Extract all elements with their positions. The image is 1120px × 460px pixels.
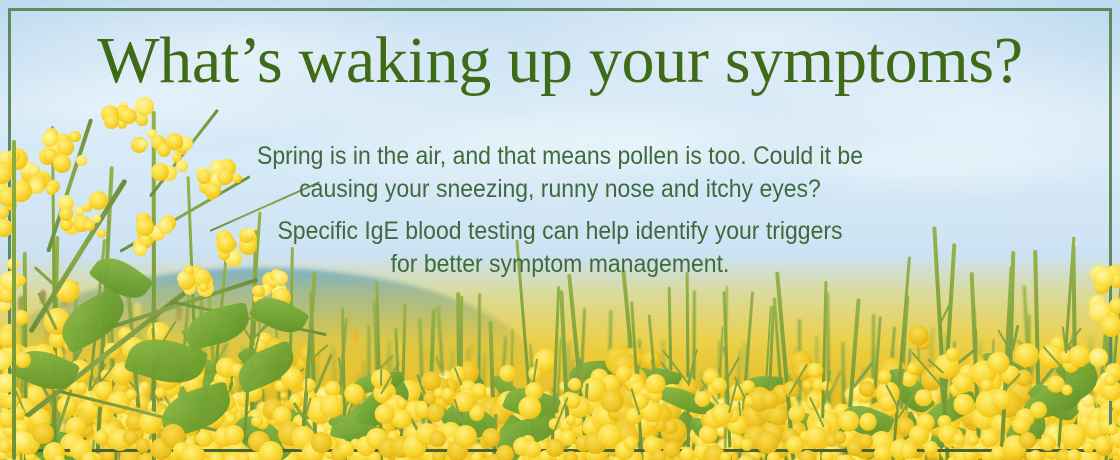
flower-blossom	[184, 375, 203, 394]
frame-overlapping-blossom	[858, 434, 874, 450]
flower-blossom	[76, 382, 87, 393]
frame-overlapping-blossom	[471, 452, 483, 460]
frame-overlapping-blossom	[756, 431, 779, 454]
frame-overlapping-blossom	[680, 447, 695, 460]
frame-overlapping-blossom	[259, 441, 283, 460]
flower-blossom	[1061, 384, 1073, 396]
frame-overlapping-blossom	[624, 436, 638, 450]
flower-blossom	[980, 378, 993, 391]
frame-overlapping-blossom	[429, 431, 446, 448]
flower-blossom	[0, 348, 10, 360]
frame-overlapping-blossom	[720, 452, 731, 460]
frame-overlapping-blossom	[546, 439, 564, 457]
flower-blossom	[741, 380, 755, 394]
flower-stem	[152, 111, 156, 460]
flower-blossom	[694, 390, 711, 407]
frame-overlapping-blossom	[82, 452, 97, 460]
frame-overlapping-blossom	[1029, 450, 1042, 460]
frame-overlapping-blossom	[805, 426, 827, 448]
frame-overlapping-blossom	[32, 423, 53, 444]
frame-overlapping-flowers	[0, 420, 1120, 460]
frame-overlapping-blossom	[339, 441, 355, 457]
frame-overlapping-blossom	[799, 450, 816, 460]
flower-twig	[251, 309, 280, 342]
frame-overlapping-blossom	[900, 443, 917, 460]
frame-overlapping-blossom	[1067, 449, 1081, 460]
flower-blossom	[645, 374, 666, 395]
flower-blossom	[807, 362, 823, 378]
frame-overlapping-blossom	[482, 428, 501, 447]
flower-twig	[728, 379, 739, 413]
frame-overlapping-blossom	[224, 425, 244, 445]
flower-blossom	[121, 337, 144, 360]
flower-twig	[195, 323, 210, 356]
frame-overlapping-blossom	[454, 425, 477, 448]
flower-blossom	[81, 331, 92, 342]
flower-twig	[727, 357, 740, 379]
frame-overlapping-blossom	[136, 438, 151, 453]
flower-blossom	[281, 367, 304, 390]
frame-overlapping-blossom	[1019, 432, 1036, 449]
frame-overlapping-blossom	[980, 429, 998, 447]
flower-blossom	[472, 384, 487, 399]
frame-overlapping-blossom	[196, 430, 213, 447]
flower-stem	[95, 166, 113, 460]
frame-overlapping-blossom	[663, 441, 681, 459]
flower-blossom	[344, 383, 365, 404]
flower-blossom	[498, 364, 517, 383]
flower-blossom	[907, 362, 919, 374]
flower-blossom	[255, 369, 276, 390]
flower-blossom	[518, 395, 542, 419]
flower-blossom	[710, 377, 726, 393]
flower-blossom	[126, 389, 137, 400]
flower-blossom	[568, 377, 582, 391]
frame-overlapping-blossom	[238, 453, 249, 460]
frame-overlapping-blossom	[874, 445, 891, 460]
frame-overlapping-blossom	[967, 434, 979, 446]
flower-field-foreground-layer	[0, 160, 1120, 460]
flower-twig	[309, 344, 329, 362]
frame-overlapping-blossom	[1040, 435, 1056, 451]
flower-blossom	[397, 398, 408, 409]
flower-twig	[940, 299, 954, 324]
frame-overlapping-blossom	[564, 451, 579, 460]
frame-overlapping-blossom	[311, 432, 331, 452]
flower-blossom	[302, 378, 316, 392]
flower-blossom	[745, 396, 755, 406]
frame-overlapping-blossom	[834, 431, 847, 444]
frame-overlapping-blossom	[767, 452, 780, 460]
flower-blossom	[230, 362, 245, 377]
flower-blossom	[991, 390, 1012, 411]
frame-overlapping-blossom	[924, 441, 938, 455]
flower-twig	[379, 369, 381, 386]
frame-overlapping-blossom	[741, 439, 754, 452]
allergy-awareness-banner: What’s waking up your symptoms? Spring i…	[0, 0, 1120, 460]
flower-blossom	[1029, 401, 1048, 420]
flower-twig	[252, 299, 255, 317]
frame-overlapping-blossom	[94, 430, 109, 445]
frame-overlapping-blossom	[953, 433, 965, 445]
frame-overlapping-blossom	[1083, 441, 1094, 452]
frame-overlapping-blossom	[496, 445, 515, 460]
frame-overlapping-blossom	[3, 425, 16, 438]
